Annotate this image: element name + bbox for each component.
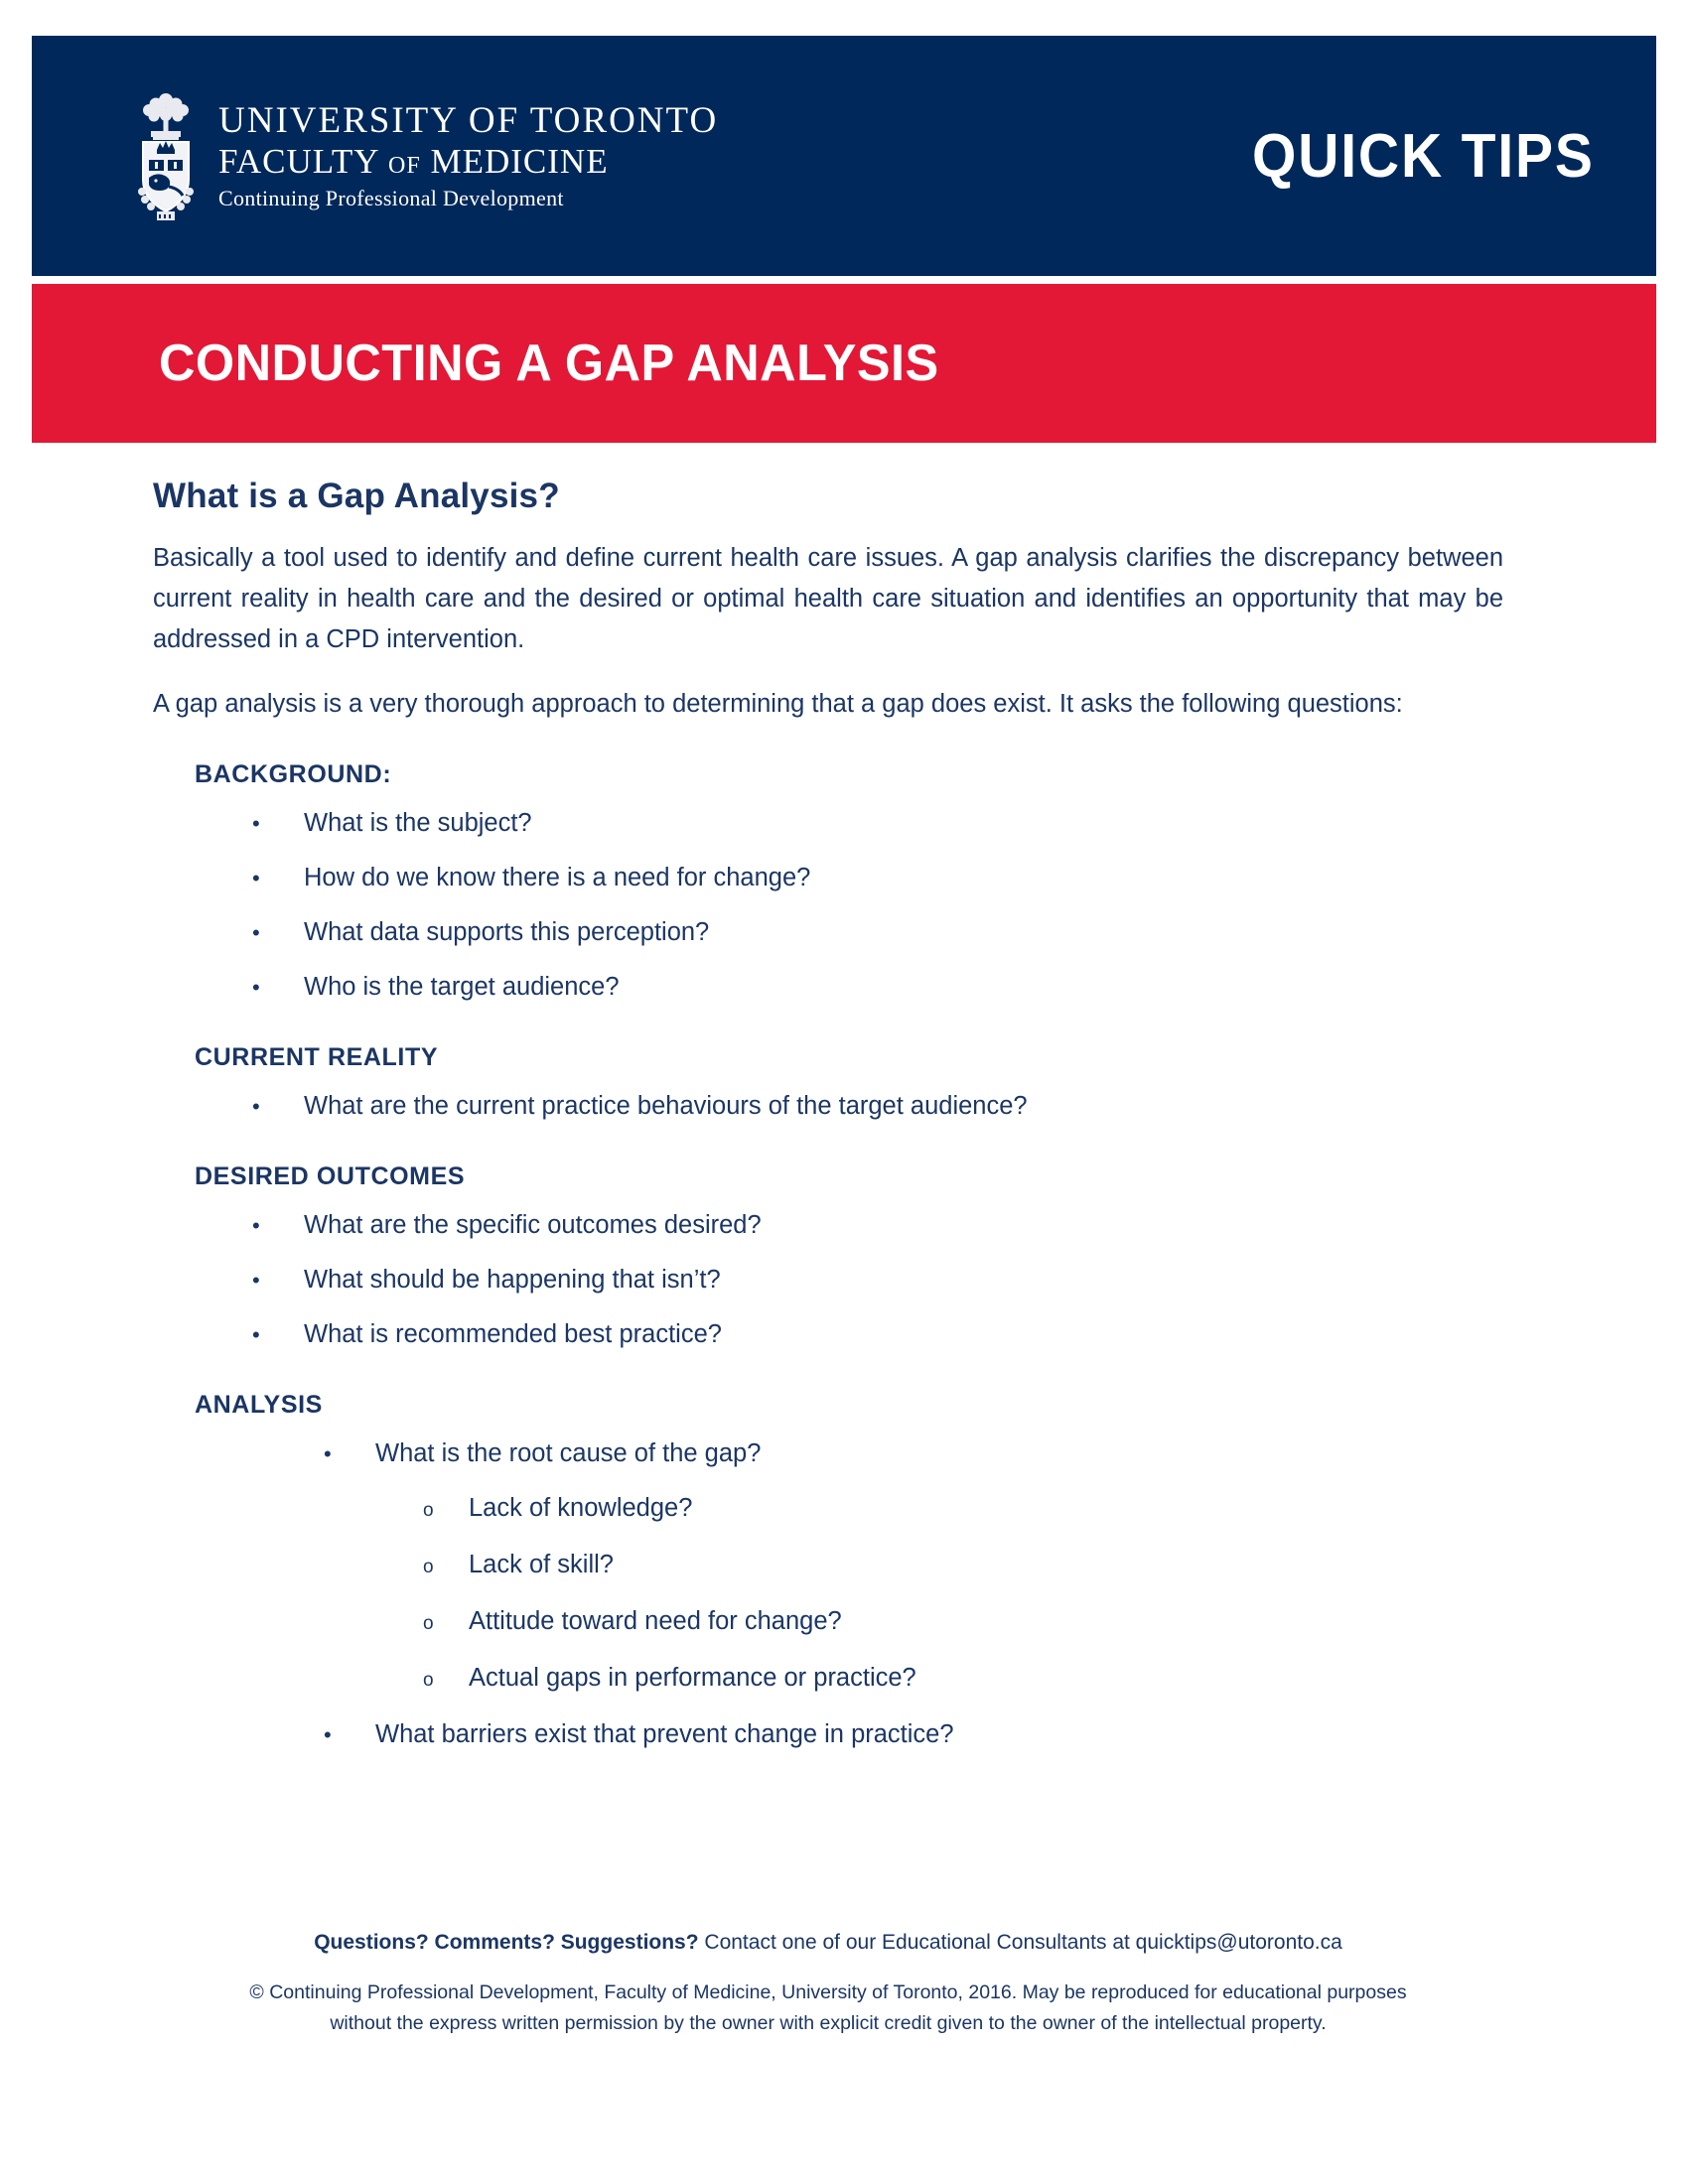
list-item-text: What is recommended best practice? xyxy=(304,1314,1503,1355)
list-item: •What is the root cause of the gap? xyxy=(324,1433,1503,1474)
group-current-reality: CURRENT REALITY •What are the current pr… xyxy=(153,1043,1503,1127)
list-item-text: What should be happening that isn’t? xyxy=(304,1260,1503,1300)
bullet-list-analysis: •What is the root cause of the gap? xyxy=(324,1433,1503,1474)
list-item: •What barriers exist that prevent change… xyxy=(324,1714,1503,1755)
university-crest-icon xyxy=(129,88,203,223)
brand-line-faculty: FACULTY OF MEDICINE xyxy=(218,144,718,179)
list-item-text: What barriers exist that prevent change … xyxy=(375,1714,1503,1755)
intro-paragraph-2: A gap analysis is a very thorough approa… xyxy=(153,684,1503,725)
list-item-text: What is the root cause of the gap? xyxy=(375,1433,1503,1474)
bullet-marker-icon: • xyxy=(252,1260,304,1300)
bullet-marker-icon: • xyxy=(324,1433,375,1474)
document-content: What is a Gap Analysis? Basically a tool… xyxy=(153,477,1503,1755)
list-item-text: What is the subject? xyxy=(304,803,1503,844)
list-item: oActual gaps in performance or practice? xyxy=(423,1658,1503,1701)
list-item-text: What are the specific outcomes desired? xyxy=(304,1205,1503,1246)
list-item: •How do we know there is a need for chan… xyxy=(252,858,1503,898)
document-footer: Questions? Comments? Suggestions? Contac… xyxy=(153,1926,1503,2039)
group-analysis: ANALYSIS •What is the root cause of the … xyxy=(153,1391,1503,1755)
bullet-marker-icon: • xyxy=(252,1205,304,1246)
bullet-list-analysis-sub: oLack of knowledge? oLack of skill? oAtt… xyxy=(423,1488,1503,1701)
list-item-text: Lack of knowledge? xyxy=(469,1488,1503,1529)
list-item: •Who is the target audience? xyxy=(252,967,1503,1008)
bullet-marker-icon: • xyxy=(252,1314,304,1355)
bullet-marker-icon: • xyxy=(252,803,304,844)
group-heading-background: BACKGROUND: xyxy=(195,760,1503,789)
list-item: •What is the subject? xyxy=(252,803,1503,844)
footer-contact-detail: Contact one of our Educational Consultan… xyxy=(699,1931,1342,1954)
list-item: •What are the specific outcomes desired? xyxy=(252,1205,1503,1246)
sub-bullet-marker-icon: o xyxy=(423,1660,469,1701)
bullet-list-analysis-after: •What barriers exist that prevent change… xyxy=(324,1714,1503,1755)
group-heading-analysis: ANALYSIS xyxy=(195,1391,1503,1420)
bullet-list-background: •What is the subject? •How do we know th… xyxy=(252,803,1503,1008)
intro-paragraph-1: Basically a tool used to identify and de… xyxy=(153,538,1503,660)
list-item-text: What are the current practice behaviours… xyxy=(304,1086,1503,1127)
brand-line-cpd: Continuing Professional Development xyxy=(218,188,718,209)
sub-bullet-marker-icon: o xyxy=(423,1547,469,1587)
footer-contact-prompt: Questions? Comments? Suggestions? xyxy=(314,1931,698,1954)
list-item: •What is recommended best practice? xyxy=(252,1314,1503,1355)
title-band: CONDUCTING A GAP ANALYSIS xyxy=(32,284,1656,443)
list-item-text: Lack of skill? xyxy=(469,1545,1503,1585)
group-desired-outcomes: DESIRED OUTCOMES •What are the specific … xyxy=(153,1162,1503,1355)
list-item: •What data supports this perception? xyxy=(252,912,1503,953)
quick-tips-label: QUICK TIPS xyxy=(1252,121,1595,192)
group-heading-desired-outcomes: DESIRED OUTCOMES xyxy=(195,1162,1503,1191)
list-item: •What are the current practice behaviour… xyxy=(252,1086,1503,1127)
document-page: UNIVERSITY OF TORONTO FACULTY OF MEDICIN… xyxy=(0,0,1688,2184)
footer-contact-line: Questions? Comments? Suggestions? Contac… xyxy=(153,1926,1503,1960)
list-item-text: How do we know there is a need for chang… xyxy=(304,858,1503,898)
list-item-text: What data supports this perception? xyxy=(304,912,1503,953)
bullet-marker-icon: • xyxy=(252,912,304,953)
brand-line-university: UNIVERSITY OF TORONTO xyxy=(218,102,718,139)
list-item-text: Attitude toward need for change? xyxy=(469,1601,1503,1642)
list-item: •What should be happening that isn’t? xyxy=(252,1260,1503,1300)
group-heading-current-reality: CURRENT REALITY xyxy=(195,1043,1503,1072)
section-heading-what-is-a-gap-analysis: What is a Gap Analysis? xyxy=(153,477,1503,516)
bullet-marker-icon: • xyxy=(324,1714,375,1755)
group-background: BACKGROUND: •What is the subject? •How d… xyxy=(153,760,1503,1008)
footer-copyright-line-2: without the express written permission b… xyxy=(153,2008,1503,2039)
bullet-marker-icon: • xyxy=(252,858,304,898)
brand-wordmark: UNIVERSITY OF TORONTO FACULTY OF MEDICIN… xyxy=(218,102,718,209)
list-item-text: Actual gaps in performance or practice? xyxy=(469,1658,1503,1699)
list-item: oAttitude toward need for change? xyxy=(423,1601,1503,1644)
bullet-marker-icon: • xyxy=(252,1086,304,1127)
bullet-marker-icon: • xyxy=(252,967,304,1008)
footer-copyright-line-1: © Continuing Professional Development, F… xyxy=(153,1978,1503,2008)
page-title: CONDUCTING A GAP ANALYSIS xyxy=(159,334,939,393)
list-item: oLack of knowledge? xyxy=(423,1488,1503,1531)
sub-bullet-marker-icon: o xyxy=(423,1603,469,1644)
list-item: oLack of skill? xyxy=(423,1545,1503,1587)
list-item-text: Who is the target audience? xyxy=(304,967,1503,1008)
university-brand: UNIVERSITY OF TORONTO FACULTY OF MEDICIN… xyxy=(129,88,718,223)
bullet-list-current-reality: •What are the current practice behaviour… xyxy=(252,1086,1503,1127)
sub-bullet-marker-icon: o xyxy=(423,1490,469,1531)
bullet-list-desired-outcomes: •What are the specific outcomes desired?… xyxy=(252,1205,1503,1355)
header-band: UNIVERSITY OF TORONTO FACULTY OF MEDICIN… xyxy=(32,36,1656,276)
